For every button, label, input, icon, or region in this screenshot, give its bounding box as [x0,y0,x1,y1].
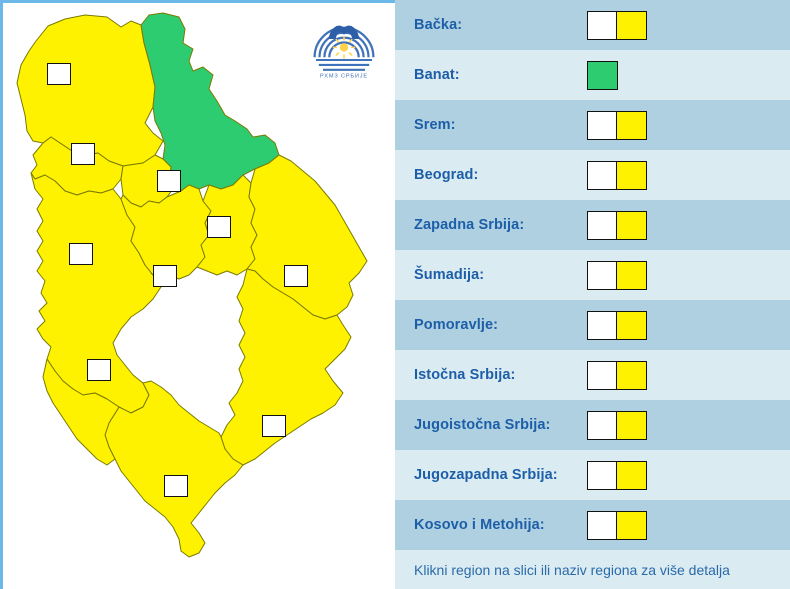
legend-swatch-banat[interactable] [587,61,618,90]
map-fog-icon-kosovo-metohija[interactable] [164,475,188,497]
region-legend-panel: Bačka: Banat: Srem: Beograd: [395,0,790,589]
legend-row-backa[interactable]: Bačka: [395,0,790,50]
fog-icon [588,362,617,389]
warning-color-chip [617,262,646,289]
legend-label-jugoistocna-srbija[interactable]: Jugoistočna Srbija: [414,417,587,433]
legend-label-kosovo-metohija[interactable]: Kosovo i Metohija: [414,517,587,533]
weather-warning-page: РХМЗ СРБИЈЕ Bačka: Banat: Sr [0,0,790,589]
legend-swatch-pomoravlje[interactable] [587,311,647,340]
legend-label-backa[interactable]: Bačka: [414,17,587,33]
warning-color-chip [617,512,646,539]
legend-row-jugoistocna-srbija[interactable]: Jugoistočna Srbija: [395,400,790,450]
legend-swatch-jugozapadna-srbija[interactable] [587,461,647,490]
fog-icon [588,312,617,339]
legend-label-sumadija[interactable]: Šumadija: [414,267,587,283]
legend-label-jugozapadna-srbija[interactable]: Jugozapadna Srbija: [414,467,587,483]
map-fog-icon-istocna-srbija[interactable] [284,265,308,287]
fog-icon [588,212,617,239]
svg-text:РХМЗ СРБИЈЕ: РХМЗ СРБИЈЕ [320,74,368,80]
legend-swatch-kosovo-metohija[interactable] [587,511,647,540]
legend-row-zapadna-srbija[interactable]: Zapadna Srbija: [395,200,790,250]
legend-footer-hint: Klikni region na slici ili naziv regiona… [395,550,790,589]
map-fog-icon-srem[interactable] [71,143,95,165]
legend-row-banat[interactable]: Banat: [395,50,790,100]
warning-color-chip [617,12,646,39]
legend-label-istocna-srbija[interactable]: Istočna Srbija: [414,367,587,383]
map-fog-icon-backa[interactable] [47,63,71,85]
legend-row-sumadija[interactable]: Šumadija: [395,250,790,300]
legend-row-jugozapadna-srbija[interactable]: Jugozapadna Srbija: [395,450,790,500]
fog-icon [588,412,617,439]
map-fog-icon-jugoistocna[interactable] [262,415,286,437]
fog-icon [588,112,617,139]
map-fog-icon-beograd[interactable] [157,170,181,192]
serbia-region-map[interactable] [3,3,395,589]
legend-row-srem[interactable]: Srem: [395,100,790,150]
map-panel: РХМЗ СРБИЈЕ [0,0,395,589]
warning-color-chip [617,462,646,489]
map-fog-icon-pomoravlje[interactable] [153,265,177,287]
legend-label-beograd[interactable]: Beograd: [414,167,587,183]
legend-row-kosovo-metohija[interactable]: Kosovo i Metohija: [395,500,790,550]
legend-swatch-zapadna-srbija[interactable] [587,211,647,240]
legend-label-srem[interactable]: Srem: [414,117,587,133]
legend-row-istocna-srbija[interactable]: Istočna Srbija: [395,350,790,400]
legend-row-beograd[interactable]: Beograd: [395,150,790,200]
legend-swatch-srem[interactable] [587,111,647,140]
fog-icon [588,512,617,539]
map-fog-icon-jugozapadna[interactable] [87,359,111,381]
rhmz-logo-icon: РХМЗ СРБИЈЕ [309,11,379,81]
legend-swatch-istocna-srbija[interactable] [587,361,647,390]
fog-icon [588,12,617,39]
legend-swatch-backa[interactable] [587,11,647,40]
warning-color-chip [617,312,646,339]
legend-label-banat[interactable]: Banat: [414,67,587,83]
warning-color-chip [617,412,646,439]
fog-icon [588,162,617,189]
legend-swatch-jugoistocna-srbija[interactable] [587,411,647,440]
map-fog-icon-zapadna-srbija[interactable] [69,243,93,265]
legend-row-pomoravlje[interactable]: Pomoravlje: [395,300,790,350]
warning-color-chip [617,162,646,189]
no-warning-color-chip [588,62,617,89]
map-fog-icon-sumadija[interactable] [207,216,231,238]
legend-label-zapadna-srbija[interactable]: Zapadna Srbija: [414,217,587,233]
warning-color-chip [617,212,646,239]
legend-label-pomoravlje[interactable]: Pomoravlje: [414,317,587,333]
legend-swatch-sumadija[interactable] [587,261,647,290]
warning-color-chip [617,112,646,139]
fog-icon [588,462,617,489]
legend-swatch-beograd[interactable] [587,161,647,190]
fog-icon [588,262,617,289]
warning-color-chip [617,362,646,389]
